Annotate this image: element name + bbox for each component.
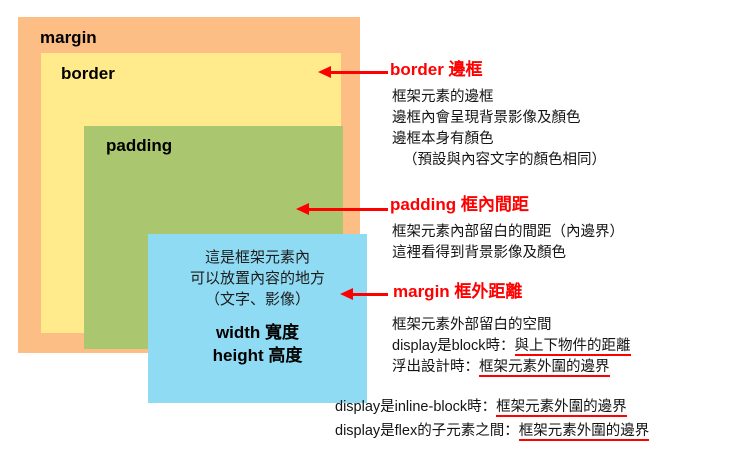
- inline-block-note-line: display是inline-block時：框架元素外圍的邊界: [335, 395, 649, 419]
- margin-annotation-display-block-line: display是block時：與上下物件的距離: [392, 336, 631, 357]
- margin-annotation-body: 框架元素外部留白的空間 display是block時：與上下物件的距離 浮出設計…: [392, 315, 631, 378]
- border-annotation-line-2: 邊框內會呈現背景影像及顏色: [392, 108, 606, 129]
- content-width-label: width 寬度: [216, 321, 299, 344]
- padding-annotation-line-2: 這裡看得到背景影像及顏色: [392, 243, 624, 264]
- padding-box-label: padding: [106, 137, 172, 154]
- margin-annotation-heading: margin 框外距離: [393, 283, 522, 300]
- content-box: 這是框架元素內 可以放置內容的地方 （文字、影像） width 寬度 heigh…: [148, 234, 367, 403]
- border-box-label: border: [61, 65, 115, 82]
- border-annotation-line-4: （預設與內容文字的顏色相同）: [392, 150, 606, 171]
- content-height-label: height 高度: [213, 344, 303, 367]
- margin-box: margin border padding 這是框架元素內 可以放置內容的地方 …: [18, 17, 360, 353]
- box-model-diagram: margin border padding 這是框架元素內 可以放置內容的地方 …: [18, 17, 360, 353]
- content-text-line-2: 可以放置內容的地方: [190, 268, 325, 289]
- bottom-notes: display是inline-block時：框架元素外圍的邊界 display是…: [335, 395, 649, 443]
- content-text-line-1: 這是框架元素內: [205, 247, 310, 268]
- display-block-value: 與上下物件的距離: [515, 338, 631, 356]
- border-box: border padding 這是框架元素內 可以放置內容的地方 （文字、影像）…: [41, 53, 341, 333]
- border-annotation-line-1: 框架元素的邊框: [392, 87, 606, 108]
- padding-annotation-heading: padding 框內間距: [390, 196, 529, 213]
- float-prefix: 浮出設計時：: [392, 359, 479, 375]
- float-value: 框架元素外圍的邊界: [479, 359, 610, 377]
- flex-prefix: display是flex的子元素之間：: [335, 423, 519, 439]
- border-annotation-body: 框架元素的邊框 邊框內會呈現背景影像及顏色 邊框本身有顏色 （預設與內容文字的顏…: [392, 87, 606, 171]
- padding-box: padding 這是框架元素內 可以放置內容的地方 （文字、影像） width …: [84, 126, 343, 349]
- content-text-line-3: （文字、影像）: [205, 289, 310, 310]
- inline-block-prefix: display是inline-block時：: [335, 399, 496, 415]
- margin-box-label: margin: [40, 29, 97, 46]
- margin-annotation-float-line: 浮出設計時：框架元素外圍的邊界: [392, 357, 631, 378]
- padding-annotation-line-1: 框架元素內部留白的間距（內邊界）: [392, 222, 624, 243]
- display-block-prefix: display是block時：: [392, 338, 515, 354]
- flex-note-line: display是flex的子元素之間：框架元素外圍的邊界: [335, 419, 649, 443]
- margin-annotation-line-1: 框架元素外部留白的空間: [392, 315, 631, 336]
- padding-annotation-body: 框架元素內部留白的間距（內邊界） 這裡看得到背景影像及顏色: [392, 222, 624, 264]
- flex-value: 框架元素外圍的邊界: [519, 423, 650, 441]
- border-annotation-heading: border 邊框: [390, 61, 483, 78]
- inline-block-value: 框架元素外圍的邊界: [496, 399, 627, 417]
- border-annotation-line-3: 邊框本身有顏色: [392, 129, 606, 150]
- annotations-panel: border 邊框 框架元素的邊框 邊框內會呈現背景影像及顏色 邊框本身有顏色 …: [390, 0, 750, 461]
